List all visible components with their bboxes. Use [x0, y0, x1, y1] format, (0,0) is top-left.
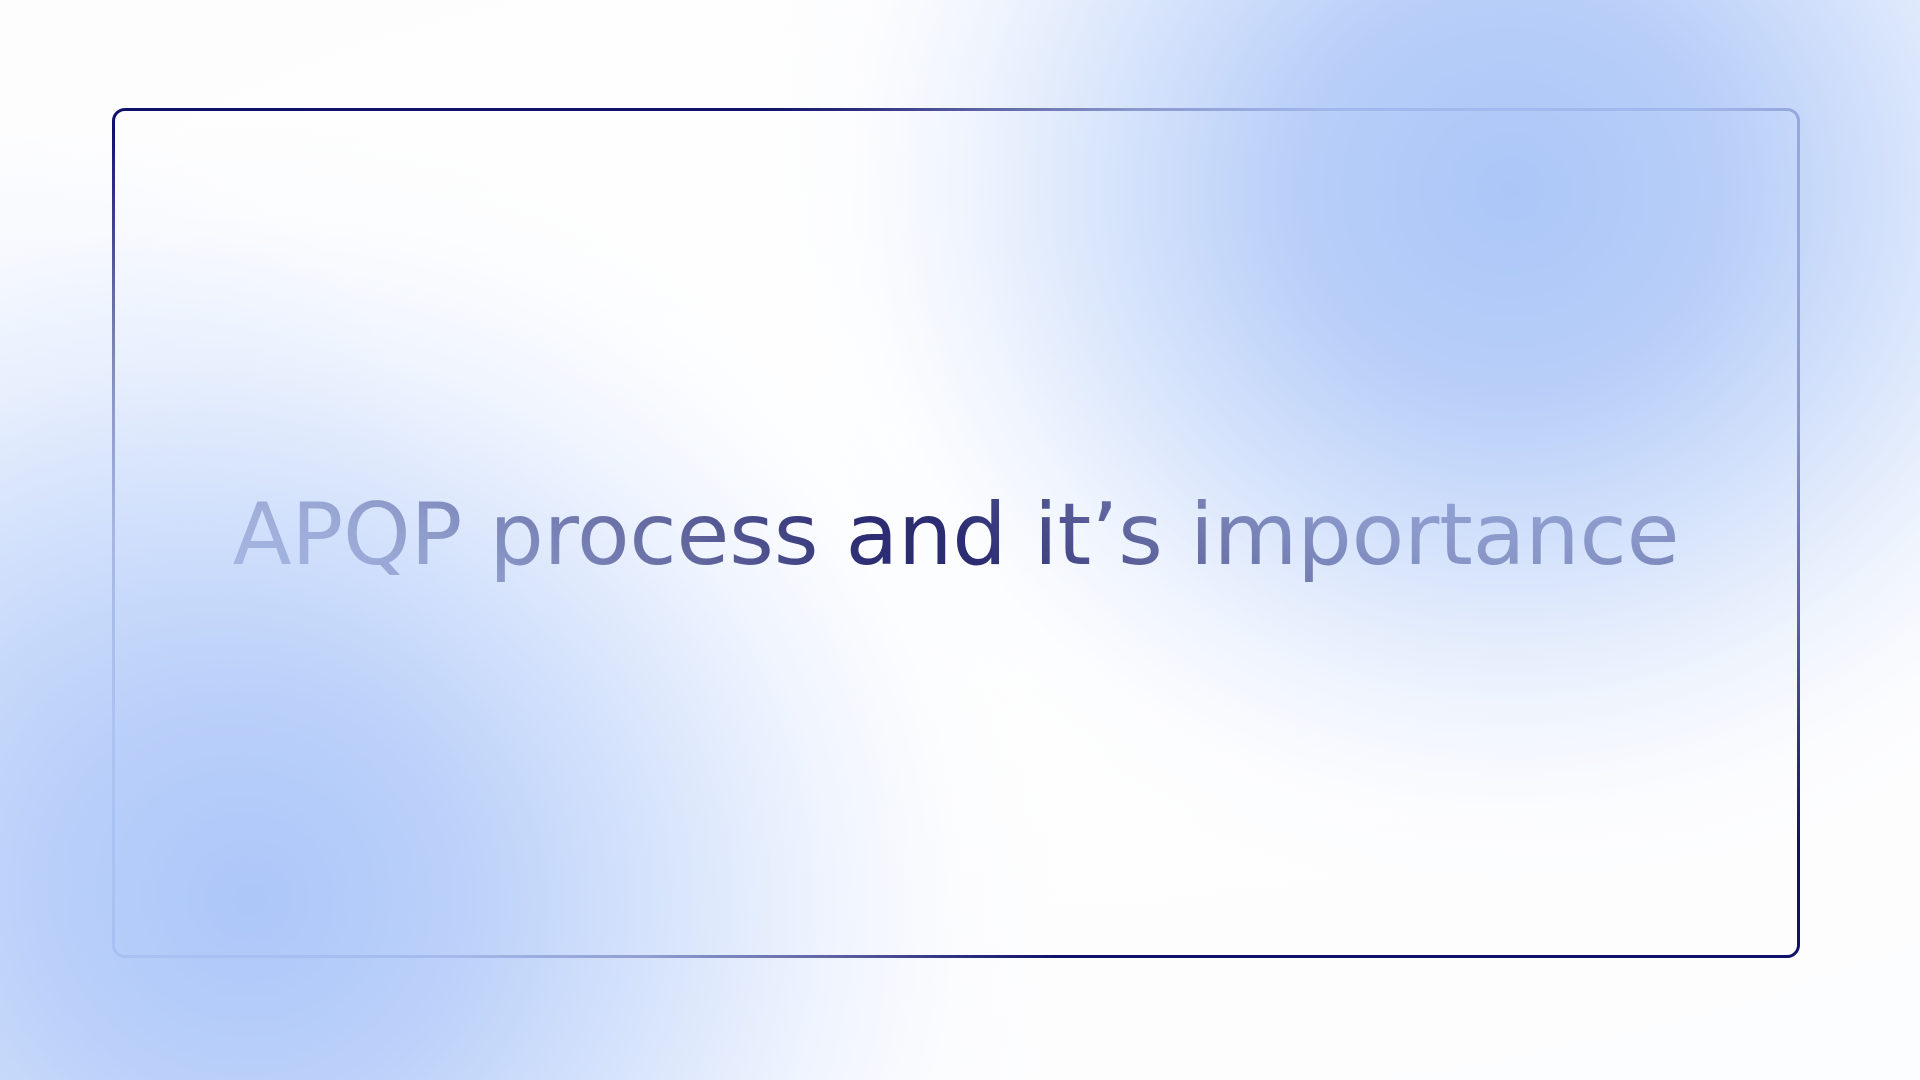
slide-title: APQP process and it’s importance [233, 488, 1680, 583]
title-container: APQP process and it’s importance [112, 108, 1800, 958]
slide-canvas: APQP process and it’s importance [0, 0, 1920, 1080]
